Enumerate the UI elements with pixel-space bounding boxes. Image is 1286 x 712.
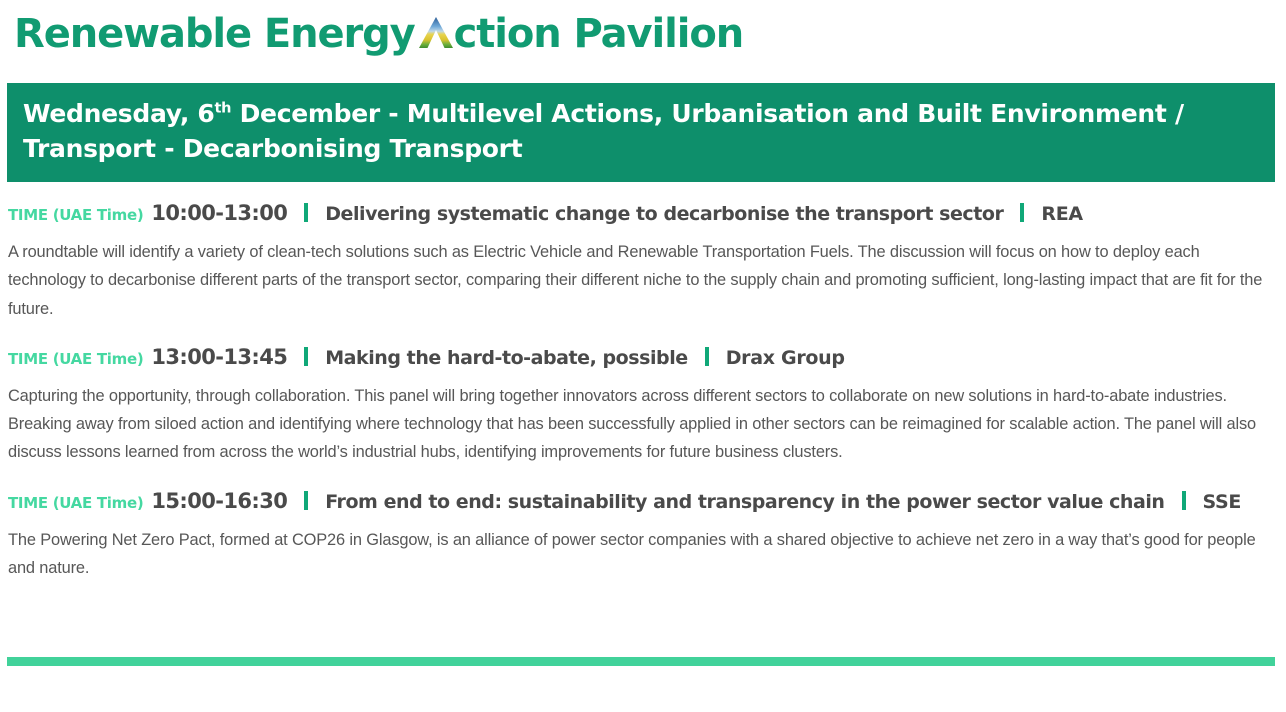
session-item: TIME (UAE Time) 10:00-13:00 Delivering s…	[8, 182, 1275, 323]
separator-bar-icon	[304, 491, 308, 510]
day-theme-banner-text: Wednesday, 6th December - Multilevel Act…	[23, 97, 1259, 166]
separator-bar-icon	[1182, 491, 1186, 510]
session-time: 13:00-13:45	[151, 346, 287, 369]
separator-bar-icon	[705, 347, 709, 366]
separator-bar-icon	[1020, 203, 1024, 222]
session-title: Making the hard-to-abate, possible	[325, 348, 687, 369]
brand-text-leading: Renewable Energy	[14, 14, 415, 54]
separator-bar-icon	[304, 203, 308, 222]
day-theme-banner: Wednesday, 6th December - Multilevel Act…	[7, 83, 1275, 182]
session-item: TIME (UAE Time) 13:00-13:45 Making the h…	[8, 323, 1275, 467]
time-label: TIME (UAE Time)	[8, 495, 143, 512]
brand-header: Renewable Energy	[0, 0, 1286, 62]
session-description: A roundtable will identify a variety of …	[8, 238, 1270, 323]
session-title: From end to end: sustainability and tran…	[325, 492, 1164, 513]
session-organisation: REA	[1041, 204, 1082, 225]
pavilion-logo: Renewable Energy	[14, 14, 743, 54]
session-time: 15:00-16:30	[151, 490, 287, 513]
session-header: TIME (UAE Time) 13:00-13:45 Making the h…	[8, 345, 1275, 369]
brand-text-trailing: ction Pavilion	[454, 14, 743, 54]
session-item: TIME (UAE Time) 15:00-16:30 From end to …	[8, 467, 1275, 583]
session-header: TIME (UAE Time) 10:00-13:00 Delivering s…	[8, 201, 1275, 225]
session-organisation: SSE	[1203, 492, 1242, 513]
session-header: TIME (UAE Time) 15:00-16:30 From end to …	[8, 489, 1275, 513]
footer-accent-rule	[7, 657, 1275, 666]
session-list: TIME (UAE Time) 10:00-13:00 Delivering s…	[0, 182, 1286, 582]
time-label: TIME (UAE Time)	[8, 207, 143, 224]
session-description: The Powering Net Zero Pact, formed at CO…	[8, 526, 1270, 582]
session-description: Capturing the opportunity, through colla…	[8, 382, 1270, 467]
banner-weekday-date: Wednesday, 6	[23, 99, 215, 128]
banner-date-ordinal: th	[215, 101, 232, 117]
session-organisation: Drax Group	[726, 348, 845, 369]
mountain-triangle-a-icon	[419, 17, 453, 48]
time-label: TIME (UAE Time)	[8, 351, 143, 368]
session-time: 10:00-13:00	[151, 202, 287, 225]
separator-bar-icon	[304, 347, 308, 366]
session-title: Delivering systematic change to decarbon…	[325, 204, 1003, 225]
